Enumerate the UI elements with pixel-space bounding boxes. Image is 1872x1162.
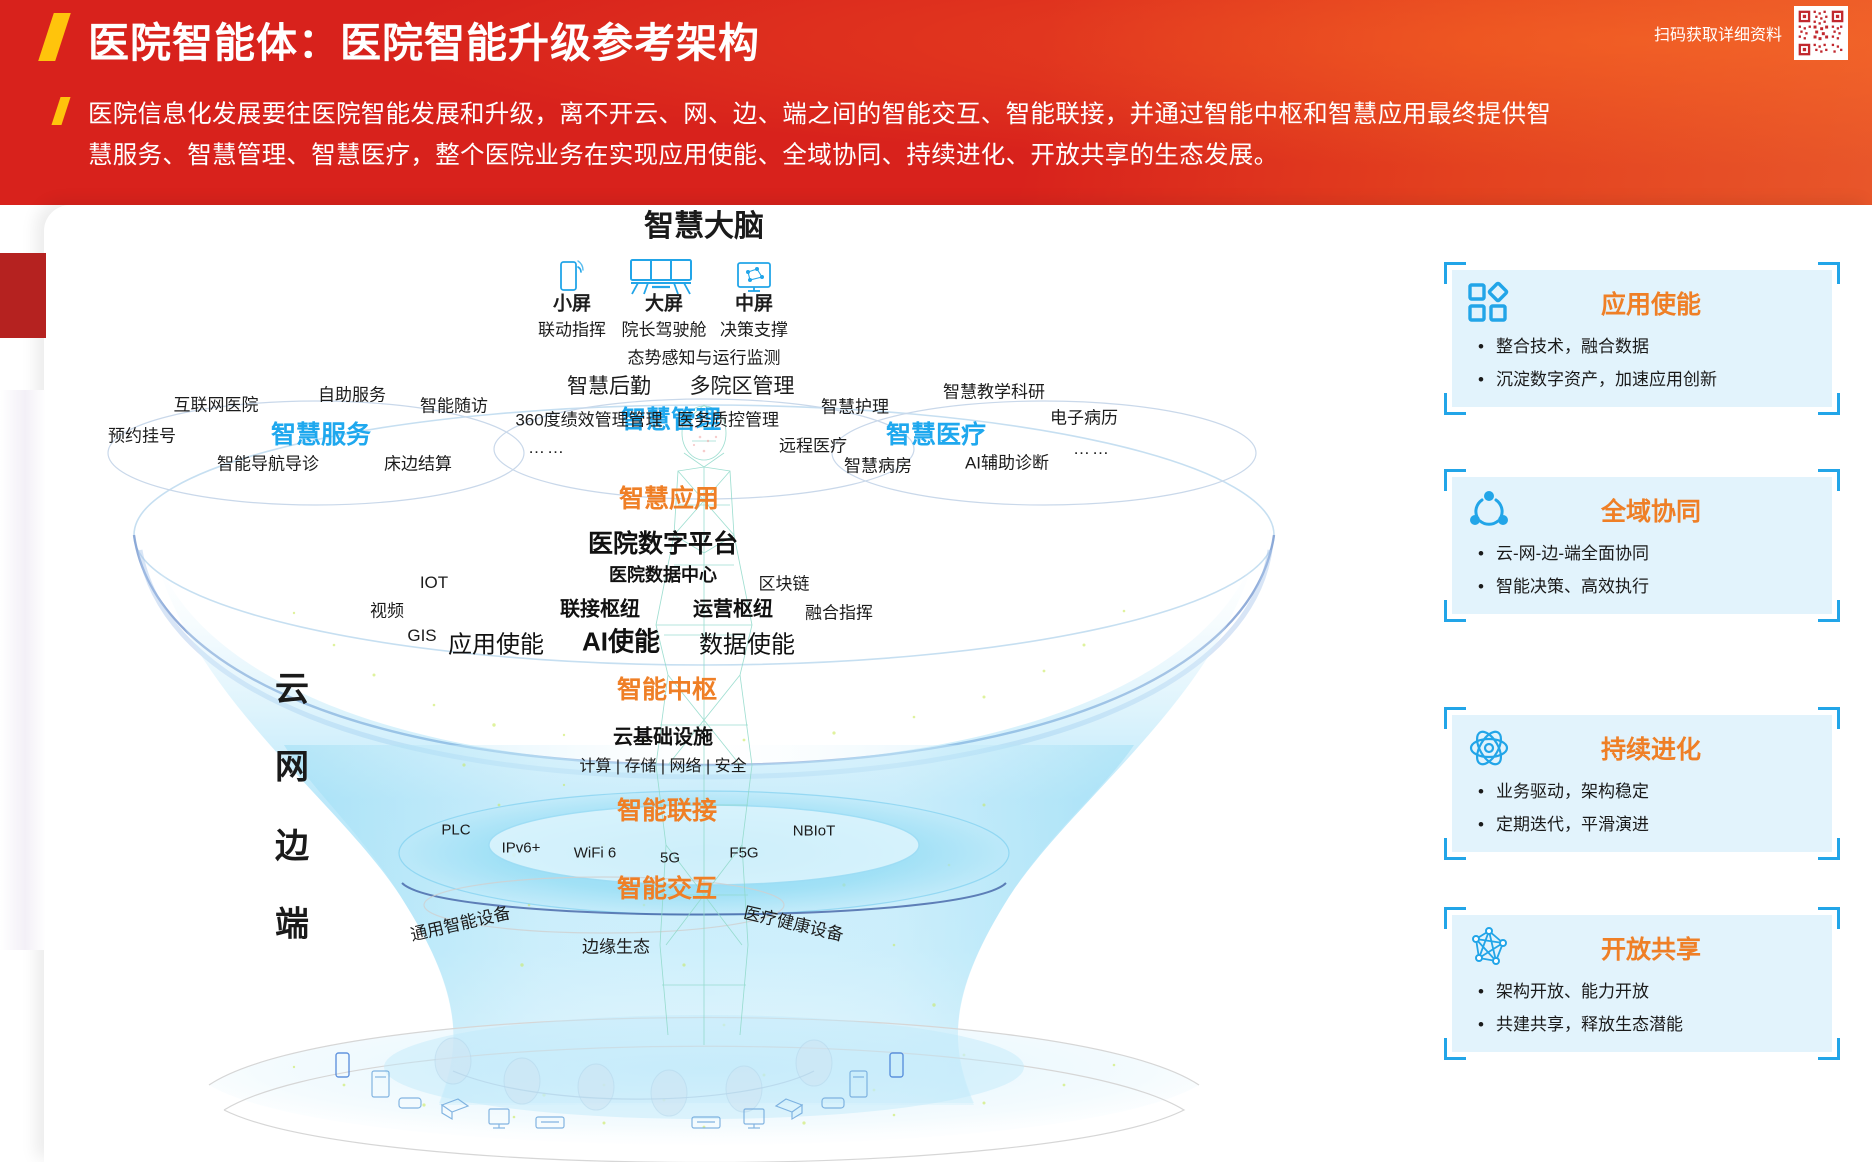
cloud-infra-title: 云基础设施: [613, 721, 713, 750]
medical-item-3: 远程医疗: [779, 432, 847, 457]
axis-cloud: 云: [275, 662, 309, 711]
mgmt-top-0: 智慧后勤: [567, 370, 651, 400]
corner-bracket-br: [1818, 393, 1840, 415]
card-bullets: 架构开放、能力开放 共建共享，释放生态潜能: [1452, 973, 1832, 1055]
medical-item-6: ……: [1073, 439, 1111, 459]
page-subtitle: 医院信息化发展要往医院智能发展和升级，离不开云、网、边、端之间的智能交互、智能联…: [88, 94, 1558, 176]
card-title: 全域协同: [1522, 492, 1832, 528]
card-bullet: 共建共享，释放生态潜能: [1496, 1008, 1832, 1041]
service-item-4: 智能导航导诊: [217, 450, 319, 475]
hub-connection: 联接枢纽: [560, 593, 640, 622]
qr-code-icon[interactable]: [1794, 6, 1848, 60]
benefit-card-continuous-evolution[interactable]: 持续进化 业务驱动，架构稳定 定期迭代，平滑演进: [1452, 715, 1832, 852]
enablement-data: 数据使能: [699, 625, 795, 660]
hub-operation: 运营枢纽: [693, 593, 773, 622]
corner-bracket-bl: [1444, 838, 1466, 860]
page-title: 医院智能体：医院智能升级参考架构: [88, 9, 760, 69]
service-item-0: 互联网医院: [174, 391, 259, 416]
medical-item-2: 电子病历: [1050, 404, 1118, 429]
title-accent-slash-icon: [38, 13, 71, 61]
card-bullet: 定期迭代，平滑演进: [1496, 808, 1832, 841]
card-bullets: 云-网-边-端全面协同 智能决策、高效执行: [1452, 535, 1832, 617]
layer-intelligent-connection: 智能联接: [617, 791, 717, 827]
corner-bracket-bl: [1444, 393, 1466, 415]
layer-intelligent-hub: 智能中枢: [617, 670, 717, 706]
network-tech-plc: PLC: [441, 822, 470, 839]
screen-sub-1: 院长驾驶舱: [622, 316, 707, 341]
enablement-ai: AI使能: [582, 622, 660, 659]
app-blocks-icon: [1466, 280, 1512, 326]
card-header: 持续进化: [1452, 715, 1832, 773]
mgmt-top-1: 多院区管理: [690, 370, 795, 400]
edge-label-edge-ecosystem: 边缘生态: [582, 933, 650, 958]
card-bullet: 云-网-边-端全面协同: [1496, 537, 1832, 570]
platform-tag-iot: IOT: [420, 573, 448, 593]
card-bullet: 业务驱动，架构稳定: [1496, 775, 1832, 808]
corner-bracket-tl: [1444, 907, 1466, 929]
share-nodes-icon: [1466, 487, 1512, 533]
benefit-card-application-enablement[interactable]: 应用使能 整合技术，融合数据 沉淀数字资产，加速应用创新: [1452, 270, 1832, 407]
situation-monitor-label: 态势感知与运行监测: [628, 344, 781, 369]
card-bullets: 整合技术，融合数据 沉淀数字资产，加速应用创新: [1452, 328, 1832, 410]
corner-bracket-br: [1818, 600, 1840, 622]
platform-tag-video: 视频: [370, 597, 404, 622]
medical-item-5: AI辅助诊断: [965, 449, 1049, 474]
service-item-2: 智能随访: [420, 392, 488, 417]
card-title: 应用使能: [1522, 285, 1832, 321]
corner-bracket-bl: [1444, 1038, 1466, 1060]
atom-orbit-icon: [1466, 725, 1512, 771]
platform-title: 医院数字平台: [588, 524, 738, 560]
platform-tag-gis: GIS: [407, 626, 436, 646]
qr-scan-block[interactable]: 扫码获取详细资料: [1654, 6, 1848, 60]
medical-item-1: 智慧教学科研: [943, 378, 1045, 403]
corner-bracket-tl: [1444, 262, 1466, 284]
network-tech-5g: 5G: [660, 850, 680, 867]
corner-bracket-tr: [1818, 469, 1840, 491]
left-red-accent-block: [0, 253, 46, 338]
screen-title-0: 小屏: [553, 289, 591, 316]
card-header: 应用使能: [1452, 270, 1832, 328]
mgmt-item-1: 医务质控管理: [677, 406, 779, 431]
axis-network: 网: [275, 740, 309, 789]
card-title: 开放共享: [1522, 930, 1832, 966]
service-item-3: 预约挂号: [108, 422, 176, 447]
subtitle-accent-slash-icon: [51, 97, 70, 125]
enablement-application: 应用使能: [448, 625, 544, 660]
medical-item-0: 智慧护理: [821, 393, 889, 418]
brain-title: 智慧大脑: [644, 201, 764, 245]
benefit-card-open-sharing[interactable]: 开放共享 架构开放、能力开放 共建共享，释放生态潜能: [1452, 915, 1832, 1052]
corner-bracket-br: [1818, 1038, 1840, 1060]
page-header: 医院智能体：医院智能升级参考架构 医院信息化发展要往医院智能发展和升级，离不开云…: [0, 0, 1872, 205]
axis-device: 端: [275, 897, 309, 946]
architecture-diagram: 智慧大脑 小屏 联动指挥 大屏 院长驾驶舱 中屏 决策支撑 态势感知与运行监测 …: [44, 205, 1444, 1162]
network-tech-f5g: F5G: [729, 845, 758, 862]
corner-bracket-bl: [1444, 600, 1466, 622]
medical-item-4: 智慧病房: [844, 452, 912, 477]
card-bullet: 智能决策、高效执行: [1496, 570, 1832, 603]
service-item-5: 床边结算: [384, 450, 452, 475]
network-mesh-icon: [1466, 925, 1512, 971]
corner-bracket-tl: [1444, 707, 1466, 729]
benefits-card-list: 应用使能 整合技术，融合数据 沉淀数字资产，加速应用创新 全域协同 云-网-边-…: [1452, 205, 1852, 1162]
card-header: 全域协同: [1452, 477, 1832, 535]
mgmt-item-0: 360度绩效管理管理: [515, 406, 662, 431]
network-tech-nbiot: NBIoT: [793, 823, 836, 840]
card-bullet: 沉淀数字资产，加速应用创新: [1496, 363, 1832, 396]
layer-smart-application: 智慧应用: [619, 479, 719, 515]
card-bullets: 业务驱动，架构稳定 定期迭代，平滑演进: [1452, 773, 1832, 855]
platform-subtitle: 医院数据中心: [609, 561, 717, 587]
layer-intelligent-interaction: 智能交互: [617, 869, 717, 905]
corner-bracket-tl: [1444, 469, 1466, 491]
qr-label: 扫码获取详细资料: [1654, 21, 1782, 45]
network-tech-wifi6: WiFi 6: [574, 845, 617, 862]
corner-bracket-tr: [1818, 707, 1840, 729]
network-tech-ipv6: IPv6+: [502, 840, 541, 857]
ring-name-service: 智慧服务: [271, 415, 371, 451]
screen-sub-2: 决策支撑: [720, 316, 788, 341]
service-item-1: 自助服务: [318, 381, 386, 406]
corner-bracket-tr: [1818, 262, 1840, 284]
card-bullet: 整合技术，融合数据: [1496, 330, 1832, 363]
card-title: 持续进化: [1522, 730, 1832, 766]
screen-sub-0: 联动指挥: [538, 316, 606, 341]
cloud-infra-subtitle: 计算 | 存储 | 网络 | 安全: [579, 752, 746, 776]
corner-bracket-tr: [1818, 907, 1840, 929]
axis-edge: 边: [275, 819, 309, 868]
screen-title-1: 大屏: [645, 289, 683, 316]
benefit-card-global-collaboration[interactable]: 全域协同 云-网-边-端全面协同 智能决策、高效执行: [1452, 477, 1832, 614]
left-edge-fade: [0, 390, 46, 950]
screen-title-2: 中屏: [735, 289, 773, 316]
platform-tag-fusion-command: 融合指挥: [805, 599, 873, 624]
card-header: 开放共享: [1452, 915, 1832, 973]
mgmt-item-2: ……: [528, 438, 566, 458]
corner-bracket-br: [1818, 838, 1840, 860]
ring-name-medical: 智慧医疗: [886, 415, 986, 451]
platform-tag-blockchain: 区块链: [759, 570, 810, 595]
card-bullet: 架构开放、能力开放: [1496, 975, 1832, 1008]
